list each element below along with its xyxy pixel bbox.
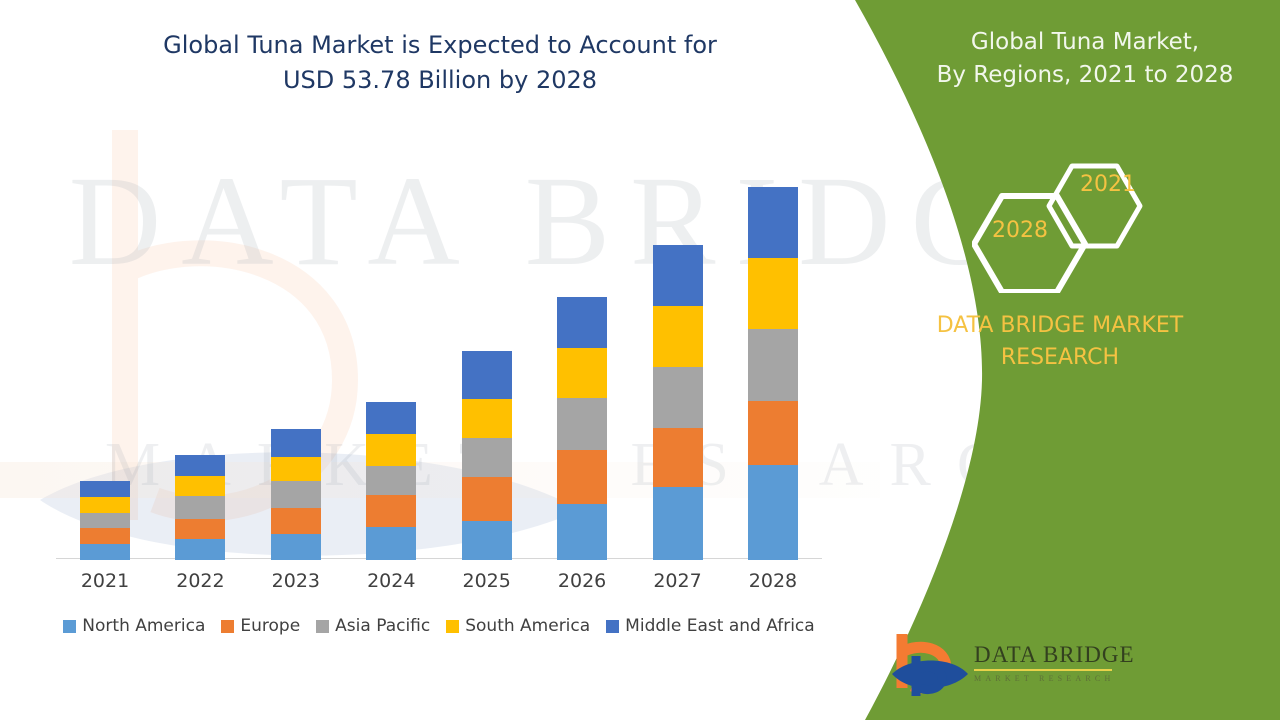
legend-label: Europe bbox=[240, 616, 300, 636]
bar-segment bbox=[462, 521, 512, 560]
bar-column bbox=[253, 130, 339, 560]
stacked-bar bbox=[748, 187, 798, 560]
bar-segment bbox=[80, 544, 130, 560]
stacked-bar bbox=[80, 481, 130, 560]
chart-title-line-1: Global Tuna Market is Expected to Accoun… bbox=[60, 28, 820, 63]
bar-segment bbox=[271, 457, 321, 482]
panel-title-line-1: Global Tuna Market, bbox=[890, 26, 1280, 59]
legend-label: Asia Pacific bbox=[335, 616, 430, 636]
bar-column bbox=[635, 130, 721, 560]
bar-segment bbox=[366, 434, 416, 465]
bar-segment bbox=[748, 187, 798, 258]
bar-segment bbox=[175, 476, 225, 496]
bar-segment bbox=[653, 428, 703, 487]
bar-segment bbox=[271, 429, 321, 457]
bar-segment bbox=[366, 402, 416, 434]
x-axis-label: 2025 bbox=[444, 570, 530, 592]
x-axis-label: 2028 bbox=[730, 570, 816, 592]
bar-column bbox=[157, 130, 243, 560]
bar-segment bbox=[557, 398, 607, 450]
bar-segment bbox=[271, 481, 321, 508]
company-logo: DATA BRIDGE MARKET RESEARCH bbox=[890, 630, 1115, 702]
bar-segment bbox=[175, 539, 225, 560]
legend-label: South America bbox=[465, 616, 590, 636]
x-axis-labels: 20212022202320242025202620272028 bbox=[56, 570, 822, 592]
legend-label: Middle East and Africa bbox=[625, 616, 815, 636]
chart-plot-area bbox=[56, 130, 822, 560]
bar-segment bbox=[462, 438, 512, 477]
stacked-bar bbox=[557, 297, 607, 560]
bar-segment bbox=[175, 455, 225, 477]
logo-tagline: MARKET RESEARCH bbox=[974, 674, 1114, 683]
legend-item[interactable]: Middle East and Africa bbox=[606, 616, 815, 636]
bar-segment bbox=[462, 351, 512, 398]
legend-swatch-icon bbox=[221, 620, 234, 633]
x-axis-label: 2024 bbox=[348, 570, 434, 592]
bar-segment bbox=[175, 496, 225, 519]
logo-text-block: DATA BRIDGE MARKET RESEARCH bbox=[974, 642, 1114, 683]
data-bridge-mark-icon bbox=[890, 630, 970, 702]
bar-segment bbox=[366, 466, 416, 496]
bar-column bbox=[348, 130, 434, 560]
stacked-bar bbox=[462, 351, 512, 560]
x-axis-label: 2022 bbox=[157, 570, 243, 592]
bar-segment bbox=[271, 508, 321, 535]
bar-column bbox=[730, 130, 816, 560]
bar-segment bbox=[366, 527, 416, 560]
panel-title-line-2: By Regions, 2021 to 2028 bbox=[890, 59, 1280, 92]
bar-segment bbox=[462, 399, 512, 438]
panel-title: Global Tuna Market, By Regions, 2021 to … bbox=[890, 26, 1280, 92]
stacked-bar bbox=[366, 402, 416, 560]
stacked-bar-chart bbox=[56, 130, 822, 560]
stacked-bar bbox=[271, 429, 321, 560]
bar-segment bbox=[653, 367, 703, 428]
brand-name: DATA BRIDGE MARKET RESEARCH bbox=[860, 310, 1260, 374]
hexagon-2021-label: 2021 bbox=[1080, 172, 1136, 197]
hexagon-group: 2028 2021 bbox=[972, 148, 1212, 293]
chart-title: Global Tuna Market is Expected to Accoun… bbox=[60, 28, 820, 98]
legend-item[interactable]: Europe bbox=[221, 616, 300, 636]
brand-name-line-2: RESEARCH bbox=[860, 342, 1260, 374]
bar-segment bbox=[271, 534, 321, 560]
bar-segment bbox=[748, 329, 798, 401]
brand-name-line-1: DATA BRIDGE MARKET bbox=[860, 310, 1260, 342]
bar-segment bbox=[80, 513, 130, 528]
x-axis-label: 2027 bbox=[635, 570, 721, 592]
legend-swatch-icon bbox=[316, 620, 329, 633]
legend-swatch-icon bbox=[63, 620, 76, 633]
bar-segment bbox=[748, 401, 798, 465]
legend-swatch-icon bbox=[446, 620, 459, 633]
bar-column bbox=[444, 130, 530, 560]
bar-segment bbox=[80, 528, 130, 545]
bar-segment bbox=[80, 497, 130, 513]
bar-segment bbox=[653, 306, 703, 367]
bar-segment bbox=[462, 477, 512, 520]
legend-item[interactable]: Asia Pacific bbox=[316, 616, 430, 636]
bar-segment bbox=[748, 465, 798, 560]
bar-segment bbox=[175, 519, 225, 540]
legend-item[interactable]: North America bbox=[63, 616, 205, 636]
chart-legend: North AmericaEuropeAsia PacificSouth Ame… bbox=[56, 616, 822, 636]
logo-rule bbox=[974, 669, 1112, 671]
x-axis-label: 2023 bbox=[253, 570, 339, 592]
x-axis-label: 2026 bbox=[539, 570, 625, 592]
bar-segment bbox=[557, 504, 607, 560]
hexagon-2028-label: 2028 bbox=[992, 218, 1048, 243]
logo-name: DATA BRIDGE bbox=[974, 642, 1114, 668]
legend-swatch-icon bbox=[606, 620, 619, 633]
bar-column bbox=[62, 130, 148, 560]
chart-title-line-2: USD 53.78 Billion by 2028 bbox=[60, 63, 820, 98]
bar-segment bbox=[557, 348, 607, 397]
bar-segment bbox=[653, 487, 703, 560]
bar-segment bbox=[653, 245, 703, 306]
x-axis-label: 2021 bbox=[62, 570, 148, 592]
bar-column bbox=[539, 130, 625, 560]
bar-segment bbox=[557, 297, 607, 348]
legend-item[interactable]: South America bbox=[446, 616, 590, 636]
bar-segment bbox=[557, 450, 607, 504]
infographic-page: DATA BRIDGE MARKET RESEARCH Global Tuna … bbox=[0, 0, 1280, 720]
stacked-bar bbox=[653, 245, 703, 560]
legend-label: North America bbox=[82, 616, 205, 636]
bar-segment bbox=[748, 258, 798, 329]
bar-segment bbox=[366, 495, 416, 526]
bar-segment bbox=[80, 481, 130, 497]
stacked-bar bbox=[175, 455, 225, 560]
